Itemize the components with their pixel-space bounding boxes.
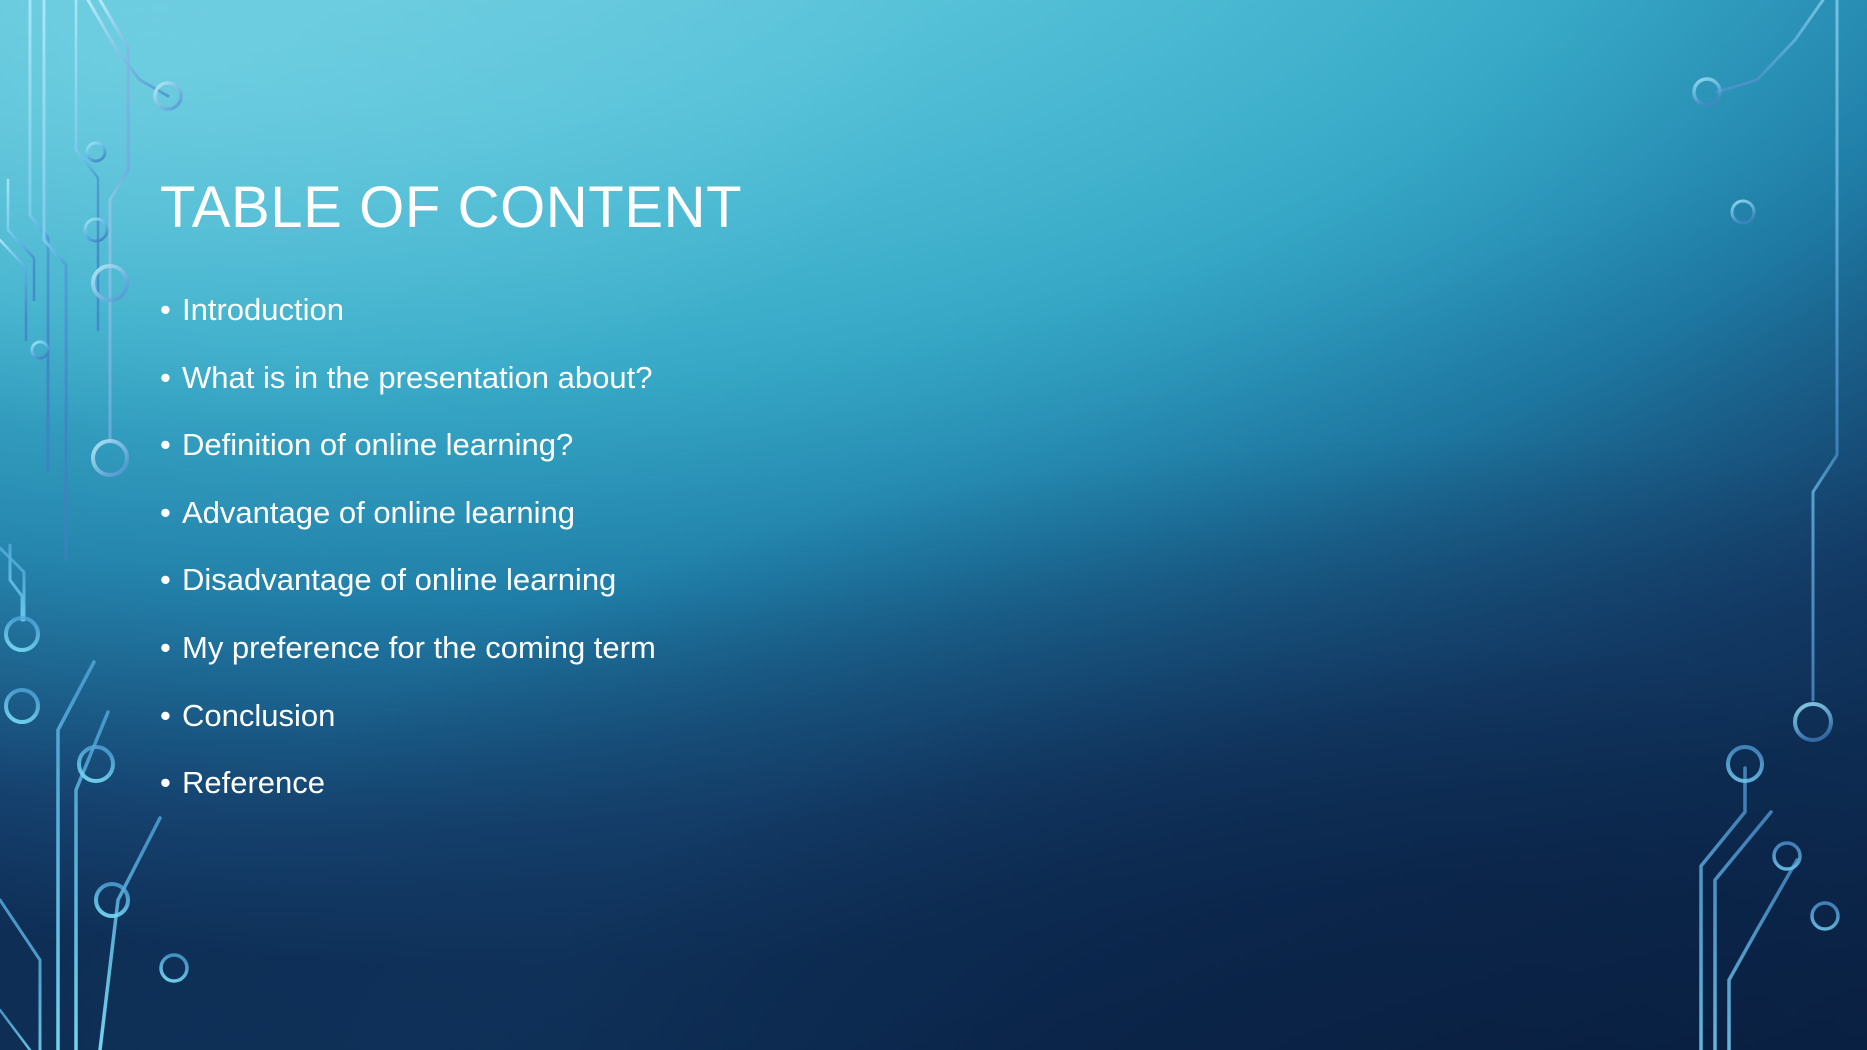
slide-content: TABLE OF CONTENT • Introduction • What i… (0, 0, 1867, 1050)
presentation-slide: TABLE OF CONTENT • Introduction • What i… (0, 0, 1867, 1050)
list-item-label: My preference for the coming term (182, 632, 656, 663)
list-item-label: Advantage of online learning (182, 497, 575, 528)
list-item[interactable]: • Introduction (160, 294, 1410, 362)
list-item-label: Definition of online learning? (182, 429, 573, 460)
list-item-label: Conclusion (182, 700, 335, 731)
list-item[interactable]: • Disadvantage of online learning (160, 564, 1410, 632)
list-item[interactable]: • Advantage of online learning (160, 497, 1410, 565)
list-item[interactable]: • What is in the presentation about? (160, 362, 1410, 430)
bullet-icon: • (160, 632, 182, 663)
list-item[interactable]: • Definition of online learning? (160, 429, 1410, 497)
bullet-icon: • (160, 767, 182, 798)
list-item-label: Introduction (182, 294, 344, 325)
bullet-icon: • (160, 564, 182, 595)
bullet-icon: • (160, 700, 182, 731)
list-item-label: Disadvantage of online learning (182, 564, 616, 595)
list-item[interactable]: • My preference for the coming term (160, 632, 1410, 700)
bullet-icon: • (160, 294, 182, 325)
list-item[interactable]: • Conclusion (160, 700, 1410, 768)
bullet-icon: • (160, 362, 182, 393)
bullet-icon: • (160, 497, 182, 528)
page-title: TABLE OF CONTENT (160, 176, 1660, 241)
list-item[interactable]: • Reference (160, 767, 1410, 835)
list-item-label: Reference (182, 767, 325, 798)
bullet-icon: • (160, 429, 182, 460)
list-item-label: What is in the presentation about? (182, 362, 652, 393)
table-of-contents-list: • Introduction • What is in the presenta… (160, 294, 1410, 835)
